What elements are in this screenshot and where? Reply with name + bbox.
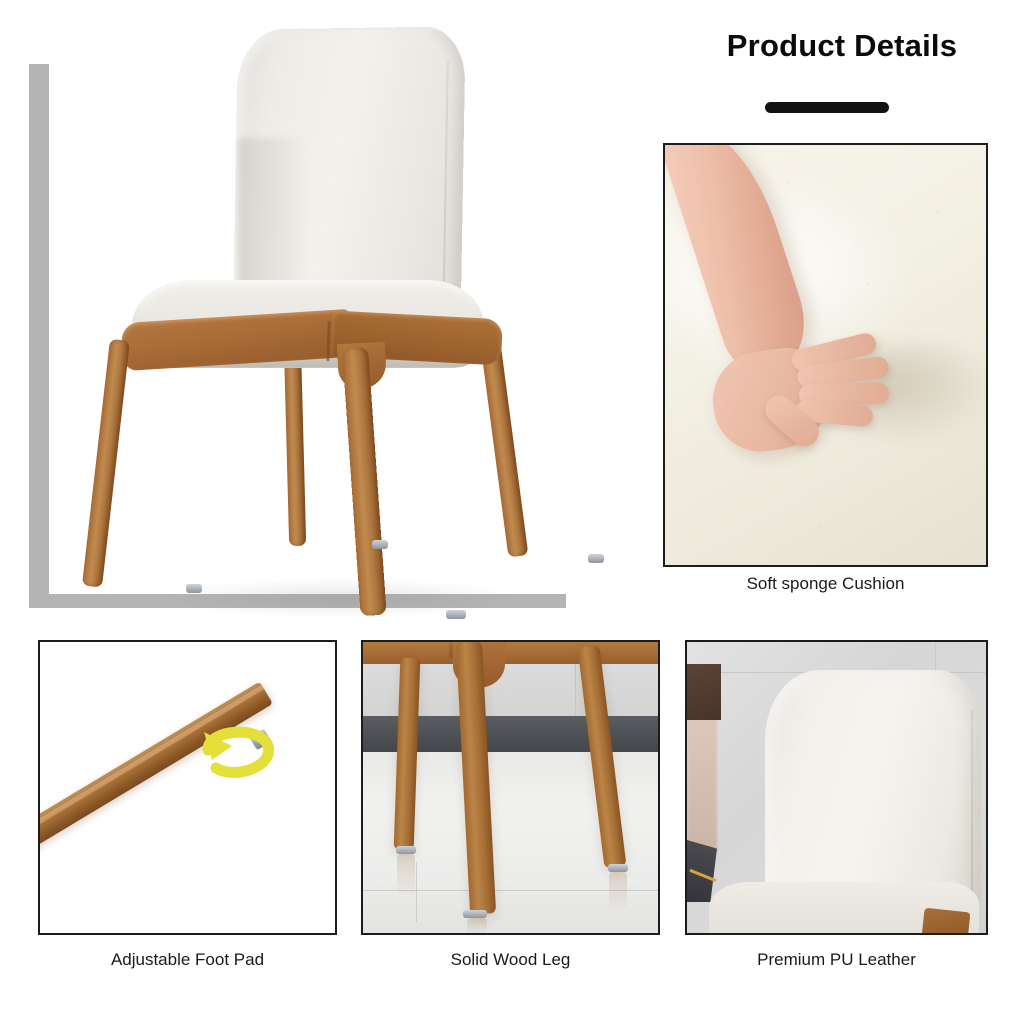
foot-cap-left xyxy=(396,846,416,854)
caption-soft-sponge-cushion: Soft sponge Cushion xyxy=(663,574,988,594)
foot-cap-center xyxy=(463,910,487,918)
page-title: Product Details xyxy=(660,28,1024,64)
panel-solid-wood-leg xyxy=(361,640,660,935)
wood-frame-detail xyxy=(922,908,971,935)
chair-leg-back-left xyxy=(284,348,306,546)
panel-premium-pu-leather xyxy=(685,640,988,935)
chair-illustration xyxy=(88,18,528,608)
hero-product-image xyxy=(0,0,640,620)
foot-pad-back-left xyxy=(372,540,388,549)
chair-leg-front-left xyxy=(82,339,130,588)
leg-reflection-right xyxy=(609,872,627,910)
leg-reflection-left xyxy=(397,854,415,896)
foot-cap-right xyxy=(608,864,628,872)
chair-leg-back-right xyxy=(480,339,528,558)
caption-adjustable-foot-pad: Adjustable Foot Pad xyxy=(38,950,337,970)
panel-soft-sponge-cushion xyxy=(663,143,988,567)
product-details-page: Product Details xyxy=(0,0,1024,1024)
foot-pad-front-left xyxy=(186,584,202,593)
backdrop-vertical-bar xyxy=(29,64,49,608)
rotation-arrow-icon xyxy=(188,720,288,796)
foot-pad-front-right xyxy=(446,610,466,619)
foot-pad-back-right xyxy=(588,554,604,563)
background-blur-object xyxy=(687,702,717,852)
dark-object-top-left xyxy=(687,664,721,720)
caption-solid-wood-leg: Solid Wood Leg xyxy=(361,950,660,970)
caption-premium-pu-leather: Premium PU Leather xyxy=(685,950,988,970)
pu-leather-backrest xyxy=(765,670,981,910)
chair-leg-front-right xyxy=(342,347,387,616)
panel-adjustable-foot-pad xyxy=(38,640,337,935)
tile-grout-line-3 xyxy=(416,862,417,922)
title-underline-rule xyxy=(765,102,889,113)
leg-reflection-center xyxy=(467,918,487,934)
pu-leather-seam xyxy=(971,710,973,910)
